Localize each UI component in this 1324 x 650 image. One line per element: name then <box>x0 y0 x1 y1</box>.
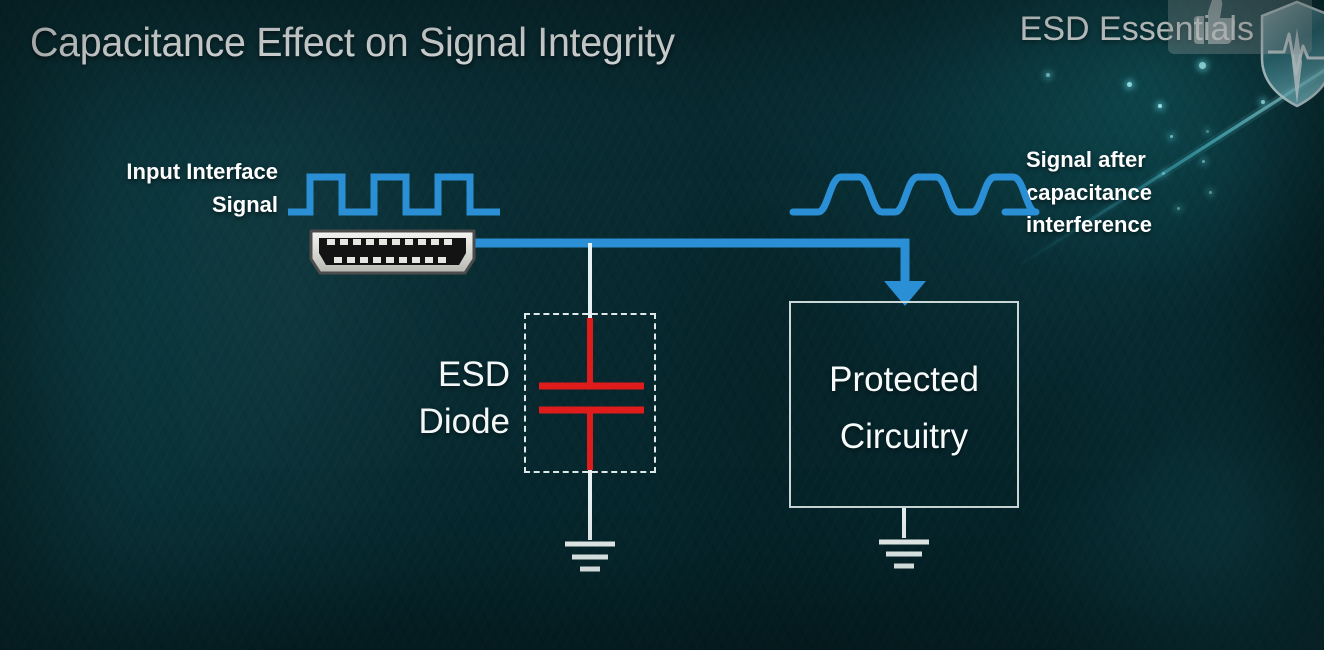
esd-diode-box <box>524 313 656 473</box>
waveform-input-square <box>288 177 500 212</box>
esd-label-line2: Diode <box>380 399 510 446</box>
output-signal-label: Signal after capacitance interference <box>1026 144 1276 242</box>
particle-dot <box>1127 82 1132 87</box>
particle-dot <box>1199 62 1206 69</box>
background-glow <box>0 0 1324 650</box>
particle-dot <box>1206 130 1209 133</box>
output-signal-line2: capacitance <box>1026 177 1276 210</box>
hdmi-connector-icon <box>305 228 480 276</box>
output-signal-line1: Signal after <box>1026 144 1276 177</box>
esd-label-line1: ESD <box>380 352 510 399</box>
esd-diode-label: ESD Diode <box>380 352 510 446</box>
circuit-diagram <box>0 0 1324 650</box>
particle-dot <box>1170 135 1173 138</box>
particle-dot <box>1046 73 1050 77</box>
signal-trace <box>470 243 926 306</box>
page-title: Capacitance Effect on Signal Integrity <box>30 19 675 66</box>
background-texture <box>0 0 1324 650</box>
output-signal-line3: interference <box>1026 209 1276 242</box>
particle-dot <box>1158 104 1162 108</box>
thumbs-up-icon <box>1182 0 1238 46</box>
protected-circuitry-label: Protected Circuitry <box>790 352 1018 465</box>
ground-symbol-left-icon <box>565 544 615 569</box>
input-signal-line2: Signal <box>60 189 278 222</box>
protected-ground-wire <box>879 508 929 566</box>
protected-label-line2: Circuitry <box>790 409 1018 466</box>
vignette-overlay <box>0 0 1324 650</box>
waveform-output-rounded <box>793 177 1036 212</box>
protected-label-line1: Protected <box>790 352 1018 409</box>
slide-canvas: Capacitance Effect on Signal Integrity E… <box>0 0 1324 650</box>
input-signal-label: Input Interface Signal <box>60 156 278 221</box>
input-signal-line1: Input Interface <box>60 156 278 189</box>
